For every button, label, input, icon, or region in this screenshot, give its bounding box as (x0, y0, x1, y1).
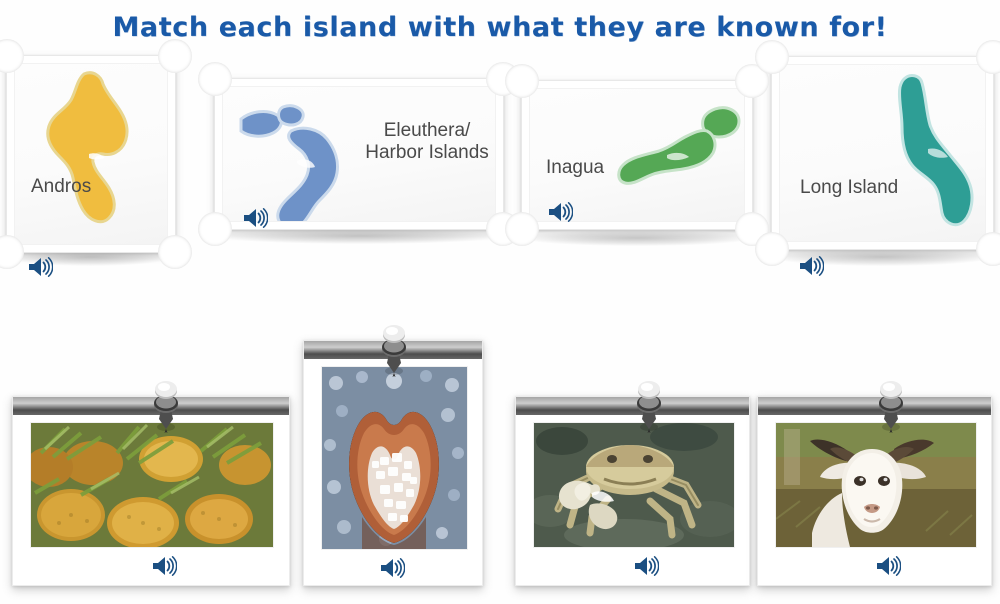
card-corner (198, 62, 232, 96)
island-label-eleuthera: Eleuthera/ Harbor Islands (351, 120, 496, 164)
speaker-icon-eleuthera[interactable] (242, 207, 268, 229)
speaker-icon-land-crab[interactable] (633, 555, 659, 577)
card-corner (755, 40, 789, 74)
card-top-band (13, 397, 289, 415)
island-card-inagua[interactable]: Inagua (521, 80, 753, 230)
island-label-andros: Andros (31, 176, 91, 198)
photo-card-salt[interactable] (303, 340, 483, 586)
card-inner-plate: Eleuthera/ Harbor Islands (222, 86, 496, 222)
card-corner (505, 64, 539, 98)
card-inner-plate: Andros (14, 63, 168, 245)
island-label-eleuthera-line1: Eleuthera/ (351, 120, 496, 142)
card-top-band (758, 397, 991, 415)
island-map-andros (37, 68, 157, 228)
speaker-icon-pineapples[interactable] (151, 555, 177, 577)
card-shadow (215, 228, 505, 244)
island-card-andros[interactable]: Andros (6, 55, 176, 253)
page-title-text: Match each island with what they are kno… (112, 12, 887, 43)
island-card-long-island[interactable]: Long Island (771, 56, 994, 250)
card-corner (158, 235, 192, 269)
card-corner (755, 232, 789, 266)
island-card-eleuthera[interactable]: Eleuthera/ Harbor Islands (214, 78, 504, 230)
speaker-icon-inagua[interactable] (547, 201, 573, 223)
card-corner (505, 212, 539, 246)
card-inner-plate: Long Island (779, 64, 986, 242)
card-corner (198, 212, 232, 246)
speaker-icon-goat[interactable] (875, 555, 901, 577)
photo-image-pineapples (31, 423, 273, 547)
photo-card-land-crab[interactable] (515, 396, 750, 586)
card-top-band (516, 397, 749, 415)
page-title: Match each island with what they are kno… (0, 12, 1000, 43)
speaker-icon-andros[interactable] (27, 256, 53, 278)
photo-image-goat (776, 423, 976, 547)
island-label-inagua: Inagua (546, 157, 604, 179)
speaker-icon-salt[interactable] (379, 557, 405, 579)
card-top-band (304, 341, 482, 359)
photo-image-land-crab (534, 423, 734, 547)
island-label-eleuthera-line2: Harbor Islands (351, 142, 496, 164)
island-map-inagua (615, 103, 745, 203)
speaker-icon-long-island[interactable] (798, 255, 824, 277)
island-map-long-island (882, 71, 986, 231)
island-label-long-island: Long Island (800, 177, 898, 199)
photo-image-salt (322, 367, 467, 549)
card-corner (158, 39, 192, 73)
photo-card-pineapples[interactable] (12, 396, 290, 586)
card-shadow (522, 230, 752, 246)
photo-card-goat[interactable] (757, 396, 992, 586)
